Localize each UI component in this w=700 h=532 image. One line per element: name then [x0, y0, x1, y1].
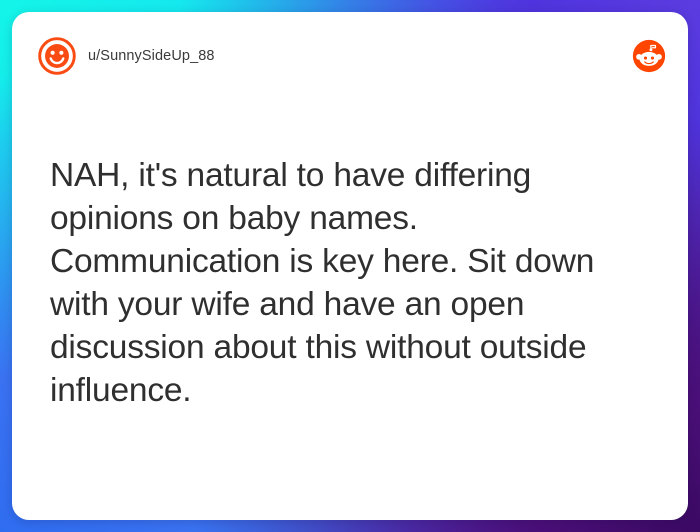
card-header: u/SunnySideUp_88 [12, 12, 688, 100]
reddit-snoo-icon[interactable] [632, 39, 666, 73]
username-label: u/SunnySideUp_88 [88, 48, 215, 64]
reddit-comment-card: u/SunnySideUp_88 NAH, it's natura [12, 12, 688, 520]
gradient-background: u/SunnySideUp_88 NAH, it's natura [0, 0, 700, 532]
user-identity-block[interactable]: u/SunnySideUp_88 [38, 37, 215, 75]
smiley-face-icon[interactable] [38, 37, 76, 75]
comment-text: NAH, it's natural to have differing opin… [50, 154, 654, 412]
